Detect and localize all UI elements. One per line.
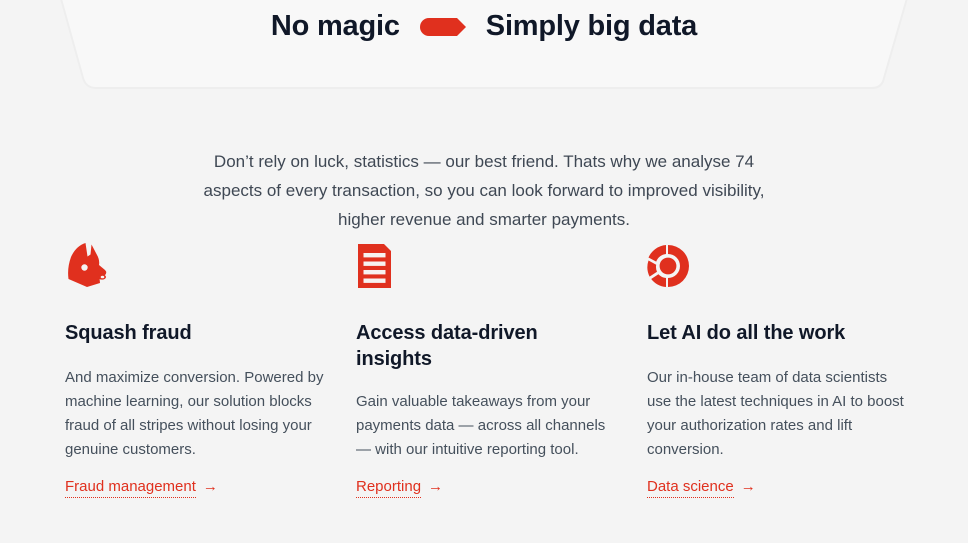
feature-link-reporting[interactable]: Reporting→ xyxy=(356,478,443,495)
feature-title: Let AI do all the work xyxy=(647,320,907,346)
feature-title: Squash fraud xyxy=(65,320,325,346)
headline-left-text: No magic xyxy=(271,0,400,52)
intro-paragraph: Don’t rely on luck, statistics — our bes… xyxy=(184,147,784,234)
feature-columns: Squash fraud And maximize conversion. Po… xyxy=(65,242,935,496)
feature-title: Access data-driven insights xyxy=(356,320,616,372)
feature-link-label: Data science xyxy=(647,478,734,498)
feature-link-fraud-management[interactable]: Fraud management→ xyxy=(65,478,218,495)
arrow-right-icon: → xyxy=(196,478,218,495)
feature-column-squash-fraud: Squash fraud And maximize conversion. Po… xyxy=(65,242,325,496)
feature-body: Gain valuable takeaways from your paymen… xyxy=(356,390,616,462)
wolf-head-icon xyxy=(65,242,325,294)
feature-link-data-science[interactable]: Data science→ xyxy=(647,478,756,495)
feature-column-data-insights: Access data-driven insights Gain valuabl… xyxy=(356,242,616,496)
document-lines-icon xyxy=(356,242,616,294)
feature-column-ai-work: Let AI do all the work Our in-house team… xyxy=(647,242,907,496)
feature-body: And maximize conversion. Powered by mach… xyxy=(65,366,325,462)
feature-body: Our in-house team of data scientists use… xyxy=(647,366,907,462)
arrow-right-icon: → xyxy=(421,478,443,495)
feature-link-label: Fraud management xyxy=(65,478,196,498)
headline-right-text: Simply big data xyxy=(486,0,697,52)
page-headline: No magic Simply big data xyxy=(0,0,968,52)
donut-target-icon xyxy=(647,242,907,294)
arrow-pill-icon xyxy=(420,18,466,36)
arrow-right-icon: → xyxy=(734,478,756,495)
feature-link-label: Reporting xyxy=(356,478,421,498)
